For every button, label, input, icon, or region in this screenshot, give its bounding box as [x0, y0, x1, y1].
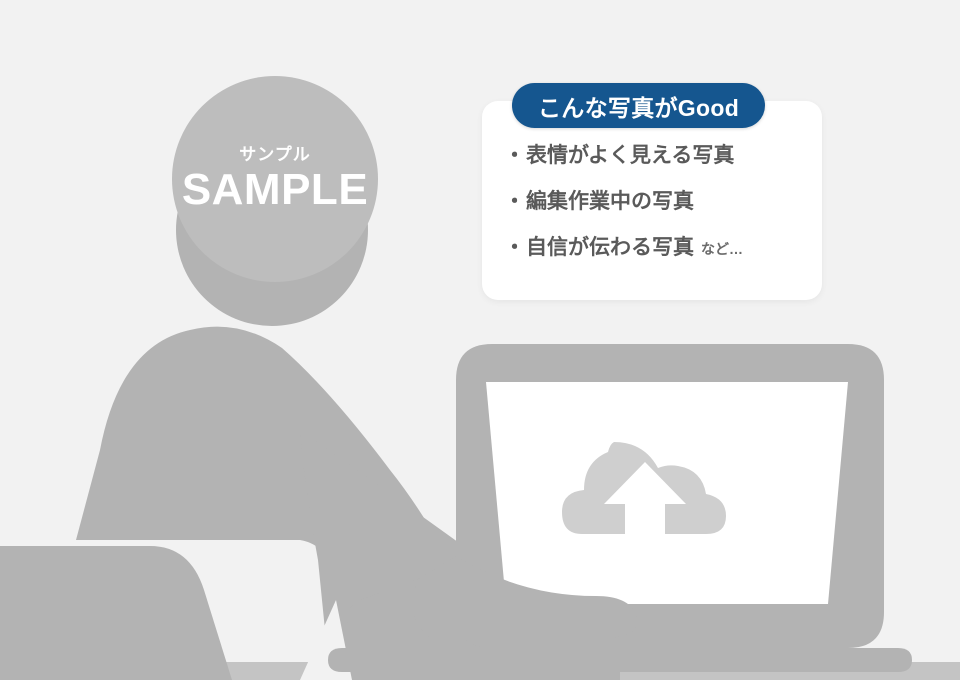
- good-photo-badge-label: こんな写真がGood: [538, 89, 739, 123]
- sample-placeholder-circle: サンプル SAMPLE: [172, 76, 378, 282]
- bullet-icon: ・: [504, 237, 525, 258]
- good-photo-badge: こんな写真がGood: [512, 83, 765, 128]
- person-at-laptop-illustration: [0, 0, 960, 680]
- list-item: ・ 表情がよく見える写真: [504, 145, 822, 191]
- bullet-icon: ・: [504, 191, 525, 212]
- list-item-label: 表情がよく見える写真: [526, 145, 734, 166]
- list-item: ・ 自信が伝わる写真 など…: [504, 237, 822, 283]
- list-item-label: 編集作業中の写真: [526, 191, 694, 212]
- good-photo-list: ・ 表情がよく見える写真 ・ 編集作業中の写真 ・ 自信が伝わる写真 など…: [482, 145, 822, 283]
- good-photo-card: ・ 表情がよく見える写真 ・ 編集作業中の写真 ・ 自信が伝わる写真 など…: [482, 101, 822, 300]
- laptop-base: [328, 648, 912, 672]
- list-item-suffix: など…: [701, 242, 743, 256]
- list-item: ・ 編集作業中の写真: [504, 191, 822, 237]
- screenshot-canvas: サンプル SAMPLE ・ 表情がよく見える写真 ・ 編集作業中の写真 ・ 自信…: [0, 0, 960, 680]
- sample-kana-label: サンプル: [239, 146, 311, 163]
- bullet-icon: ・: [504, 145, 525, 166]
- sample-latin-label: SAMPLE: [182, 168, 368, 212]
- list-item-label: 自信が伝わる写真: [526, 237, 694, 258]
